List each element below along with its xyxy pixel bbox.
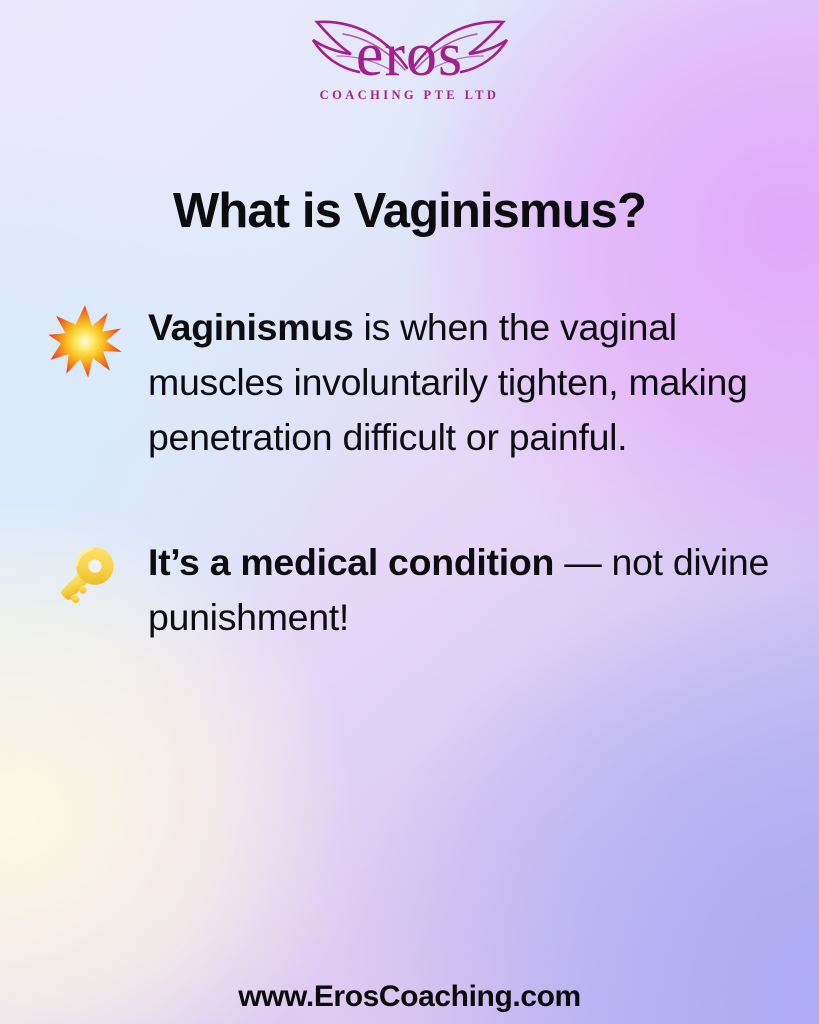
logo-mark: eros — [287, 6, 533, 92]
list-item-lead: Vaginismus — [148, 306, 353, 348]
website-url[interactable]: www.ErosCoaching.com — [0, 980, 819, 1014]
list-item: Vaginismus is when the vaginal muscles i… — [44, 300, 771, 465]
page-title: What is Vaginismus? — [0, 183, 819, 239]
logo-wordmark: eros — [287, 24, 533, 86]
bullet-list: Vaginismus is when the vaginal muscles i… — [44, 300, 771, 645]
collision-emoji — [44, 300, 148, 378]
key-emoji — [44, 535, 148, 613]
list-item: It’s a medical condition — not divine pu… — [44, 535, 771, 645]
list-item-lead: It’s a medical condition — [148, 541, 554, 583]
list-item-text: It’s a medical condition — not divine pu… — [148, 535, 771, 645]
list-item-text: Vaginismus is when the vaginal muscles i… — [148, 300, 771, 465]
poster-canvas: eros COACHING PTE LTD What is Vaginismus… — [0, 0, 819, 1024]
brand-logo: eros COACHING PTE LTD — [0, 6, 819, 103]
